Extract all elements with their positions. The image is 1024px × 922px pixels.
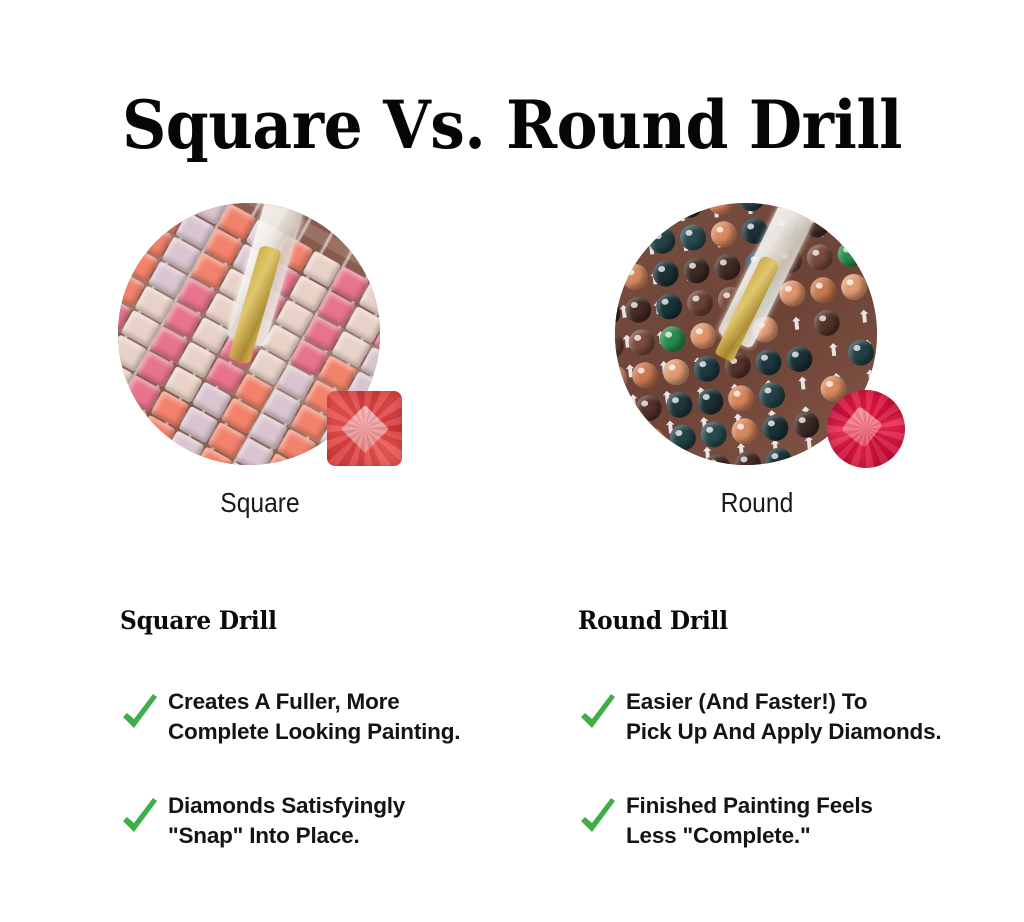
benefit-text: Finished Painting Feels Less "Complete." — [626, 791, 998, 851]
column-heading-round: Round Drill — [578, 606, 969, 635]
check-icon — [120, 797, 160, 843]
column-square-drill: Square Drill Creates A Fuller, More Comp… — [120, 606, 540, 895]
column-heading-square: Square Drill — [120, 606, 511, 635]
photo-caption-square: Square — [128, 487, 392, 519]
check-icon — [578, 797, 618, 843]
benefit-text: Creates A Fuller, More Complete Looking … — [168, 687, 540, 747]
benefit-item: Finished Painting Feels Less "Complete." — [578, 791, 998, 853]
square-gem-icon — [327, 391, 402, 466]
benefit-text: Diamonds Satisfyingly "Snap" Into Place. — [168, 791, 540, 851]
page-title: Square Vs. Round Drill — [36, 92, 988, 158]
check-icon — [578, 693, 618, 739]
photo-caption-round: Round — [625, 487, 889, 519]
check-icon — [120, 693, 160, 739]
square-drill-photo-wrap — [110, 203, 410, 468]
benefit-item: Easier (And Faster!) To Pick Up And Appl… — [578, 687, 998, 749]
gem-facets — [327, 391, 402, 466]
comparison-columns: Square Drill Creates A Fuller, More Comp… — [0, 606, 1024, 906]
column-round-drill: Round Drill Easier (And Faster!) To Pick… — [578, 606, 998, 895]
benefit-item: Creates A Fuller, More Complete Looking … — [120, 687, 540, 749]
gem-facets — [827, 390, 905, 468]
round-gem-icon — [827, 390, 905, 468]
infographic-page: Square Vs. Round Drill ⬆⬆⬆⬆⬆⬆⬆⬆⬆⬆⬆⬆⬆⬆⬆⬆⬆… — [0, 0, 1024, 922]
photo-row: ⬆⬆⬆⬆⬆⬆⬆⬆⬆⬆⬆⬆⬆⬆⬆⬆⬆⬆⬆⬆⬆⬆⬆⬆⬆⬆⬆⬆⬆⬆⬆⬆⬆⬆⬆⬆⬆⬆⬆⬆… — [0, 203, 1024, 473]
benefit-item: Diamonds Satisfyingly "Snap" Into Place. — [120, 791, 540, 853]
round-drill-photo-wrap: ⬆⬆⬆⬆⬆⬆⬆⬆⬆⬆⬆⬆⬆⬆⬆⬆⬆⬆⬆⬆⬆⬆⬆⬆⬆⬆⬆⬆⬆⬆⬆⬆⬆⬆⬆⬆⬆⬆⬆⬆… — [607, 203, 907, 468]
benefit-text: Easier (And Faster!) To Pick Up And Appl… — [626, 687, 998, 747]
